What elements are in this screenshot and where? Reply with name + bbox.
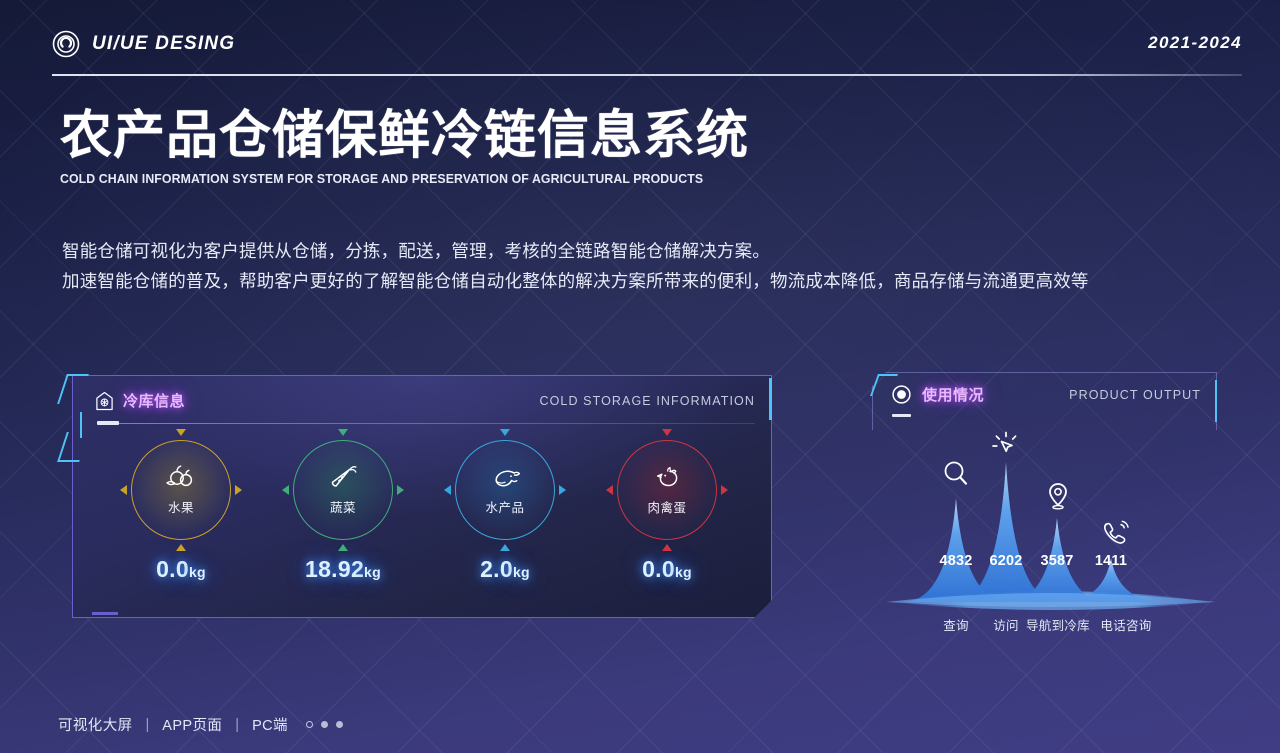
- description-block: 智能仓储可视化为客户提供从仓储，分拣，配送，管理，考核的全链路智能仓储解决方案。…: [62, 236, 1089, 296]
- marker-top: [500, 429, 510, 436]
- marker-right: [721, 485, 728, 495]
- ring-content: 水果: [131, 440, 231, 540]
- value-unit: kg: [364, 564, 381, 580]
- list-item-label: 水产品: [485, 497, 524, 516]
- page-title: 农产品仓储保鲜冷链信息系统: [60, 108, 749, 164]
- meat-egg-ring: 肉禽蛋: [617, 440, 717, 540]
- page-subtitle: COLD CHAIN INFORMATION SYSTEM FOR STORAG…: [60, 172, 739, 186]
- product-output-panel: 使用情况 PRODUCT OUTPUT: [872, 372, 1217, 430]
- shrimp-icon: [488, 464, 522, 494]
- marker-left: [444, 485, 451, 495]
- value-unit: kg: [675, 564, 692, 580]
- cold-storage-title-en: COLD STORAGE INFORMATION: [539, 394, 755, 408]
- list-item[interactable]: 蔬菜 18.92kg: [262, 440, 424, 600]
- list-item-label: 水果: [168, 497, 194, 516]
- cold-storage-item-list: 水果 0.0kg 蔬菜: [100, 440, 750, 600]
- marker-left: [282, 485, 289, 495]
- product-output-header-left: 使用情况: [892, 384, 984, 405]
- marker-top: [176, 429, 186, 436]
- header: UI/UE DESING 2021-2024: [52, 30, 1242, 78]
- value-unit: kg: [189, 564, 206, 580]
- chart-canvas: [886, 440, 1216, 640]
- panel-accent-right: [769, 378, 772, 420]
- header-divider: [52, 74, 1242, 76]
- phone-call-icon: [1098, 518, 1130, 550]
- value-unit: kg: [513, 564, 530, 580]
- marker-right: [559, 485, 566, 495]
- pagination-dots: [306, 721, 343, 728]
- pagination-dot-1[interactable]: [306, 721, 313, 728]
- search-icon: [940, 458, 972, 490]
- list-item-value: 0.0kg: [642, 556, 692, 583]
- radio-dot-icon: [892, 385, 911, 404]
- footer: 可视化大屏 | APP页面 | PC端: [58, 714, 343, 735]
- panel-accent-bottom: [92, 612, 118, 615]
- location-pin-icon: [1042, 480, 1074, 512]
- list-item[interactable]: 肉禽蛋 0.0kg: [586, 440, 748, 600]
- footer-item-dashboard[interactable]: 可视化大屏: [58, 714, 133, 735]
- list-item-value: 0.0kg: [156, 556, 206, 583]
- fridge-house-icon: [95, 391, 114, 411]
- marker-bottom: [338, 544, 348, 551]
- circle-logo-icon: [52, 30, 80, 58]
- brand-label: UI/UE DESING: [92, 33, 235, 55]
- list-item-value: 2.0kg: [480, 556, 530, 583]
- value-number: 0.0: [156, 556, 189, 582]
- pagination-dot-2[interactable]: [321, 721, 328, 728]
- list-item[interactable]: 水果 0.0kg: [100, 440, 262, 600]
- list-item-label: 蔬菜: [330, 497, 356, 516]
- marker-right: [235, 485, 242, 495]
- list-item-label: 肉禽蛋: [647, 497, 686, 516]
- fruit-ring: 水果: [131, 440, 231, 540]
- brand: UI/UE DESING: [52, 30, 235, 58]
- slide-root: UI/UE DESING 2021-2024 农产品仓储保鲜冷链信息系统 COL…: [0, 0, 1280, 753]
- ring-content: 蔬菜: [293, 440, 393, 540]
- footer-separator: |: [146, 717, 150, 733]
- marker-left: [120, 485, 127, 495]
- page-title-block: 农产品仓储保鲜冷链信息系统 COLD CHAIN INFORMATION SYS…: [60, 108, 749, 186]
- vegetable-ring: 蔬菜: [293, 440, 393, 540]
- aquatic-ring: 水产品: [455, 440, 555, 540]
- cold-storage-header-divider: [100, 423, 755, 424]
- value-number: 2.0: [480, 556, 513, 582]
- panel-accent-right: [1215, 380, 1217, 422]
- marker-right: [397, 485, 404, 495]
- marker-left: [606, 485, 613, 495]
- fruit-icon: [164, 464, 198, 494]
- footer-separator: |: [235, 717, 239, 733]
- cold-storage-header-marker: [97, 421, 119, 425]
- description-line-1: 智能仓储可视化为客户提供从仓储，分拣，配送，管理，考核的全链路智能仓储解决方案。: [62, 236, 1089, 266]
- value-number: 18.92: [305, 556, 364, 582]
- product-output-title: 使用情况: [922, 384, 984, 405]
- marker-top: [338, 429, 348, 436]
- footer-item-app[interactable]: APP页面: [162, 714, 222, 735]
- panel-accent-left: [80, 412, 82, 438]
- pagination-dot-3[interactable]: [336, 721, 343, 728]
- marker-bottom: [176, 544, 186, 551]
- chart-value: 1411: [1076, 553, 1146, 569]
- chicken-icon: [650, 464, 684, 494]
- chart-category-label: 电话咨询: [1081, 615, 1171, 634]
- cold-storage-title: 冷库信息: [123, 390, 185, 411]
- click-cursor-icon: [990, 430, 1022, 462]
- ring-content: 肉禽蛋: [617, 440, 717, 540]
- list-item-value: 18.92kg: [305, 556, 381, 583]
- description-line-2: 加速智能仓储的普及，帮助客户更好的了解智能仓储自动化整体的解决方案所带来的便利，…: [62, 266, 1089, 296]
- list-item[interactable]: 水产品 2.0kg: [424, 440, 586, 600]
- carrot-icon: [326, 464, 360, 494]
- marker-top: [662, 429, 672, 436]
- product-output-title-en: PRODUCT OUTPUT: [1069, 388, 1201, 402]
- value-number: 0.0: [642, 556, 675, 582]
- product-output-header-marker: [892, 414, 911, 417]
- marker-bottom: [662, 544, 672, 551]
- year-range-label: 2021-2024: [1148, 33, 1242, 53]
- ring-content: 水产品: [455, 440, 555, 540]
- footer-item-pc[interactable]: PC端: [252, 714, 288, 735]
- marker-bottom: [500, 544, 510, 551]
- usage-chart: 4832 6202 3587 1411 查询 访问 导航到冷库 电话咨询: [886, 440, 1216, 640]
